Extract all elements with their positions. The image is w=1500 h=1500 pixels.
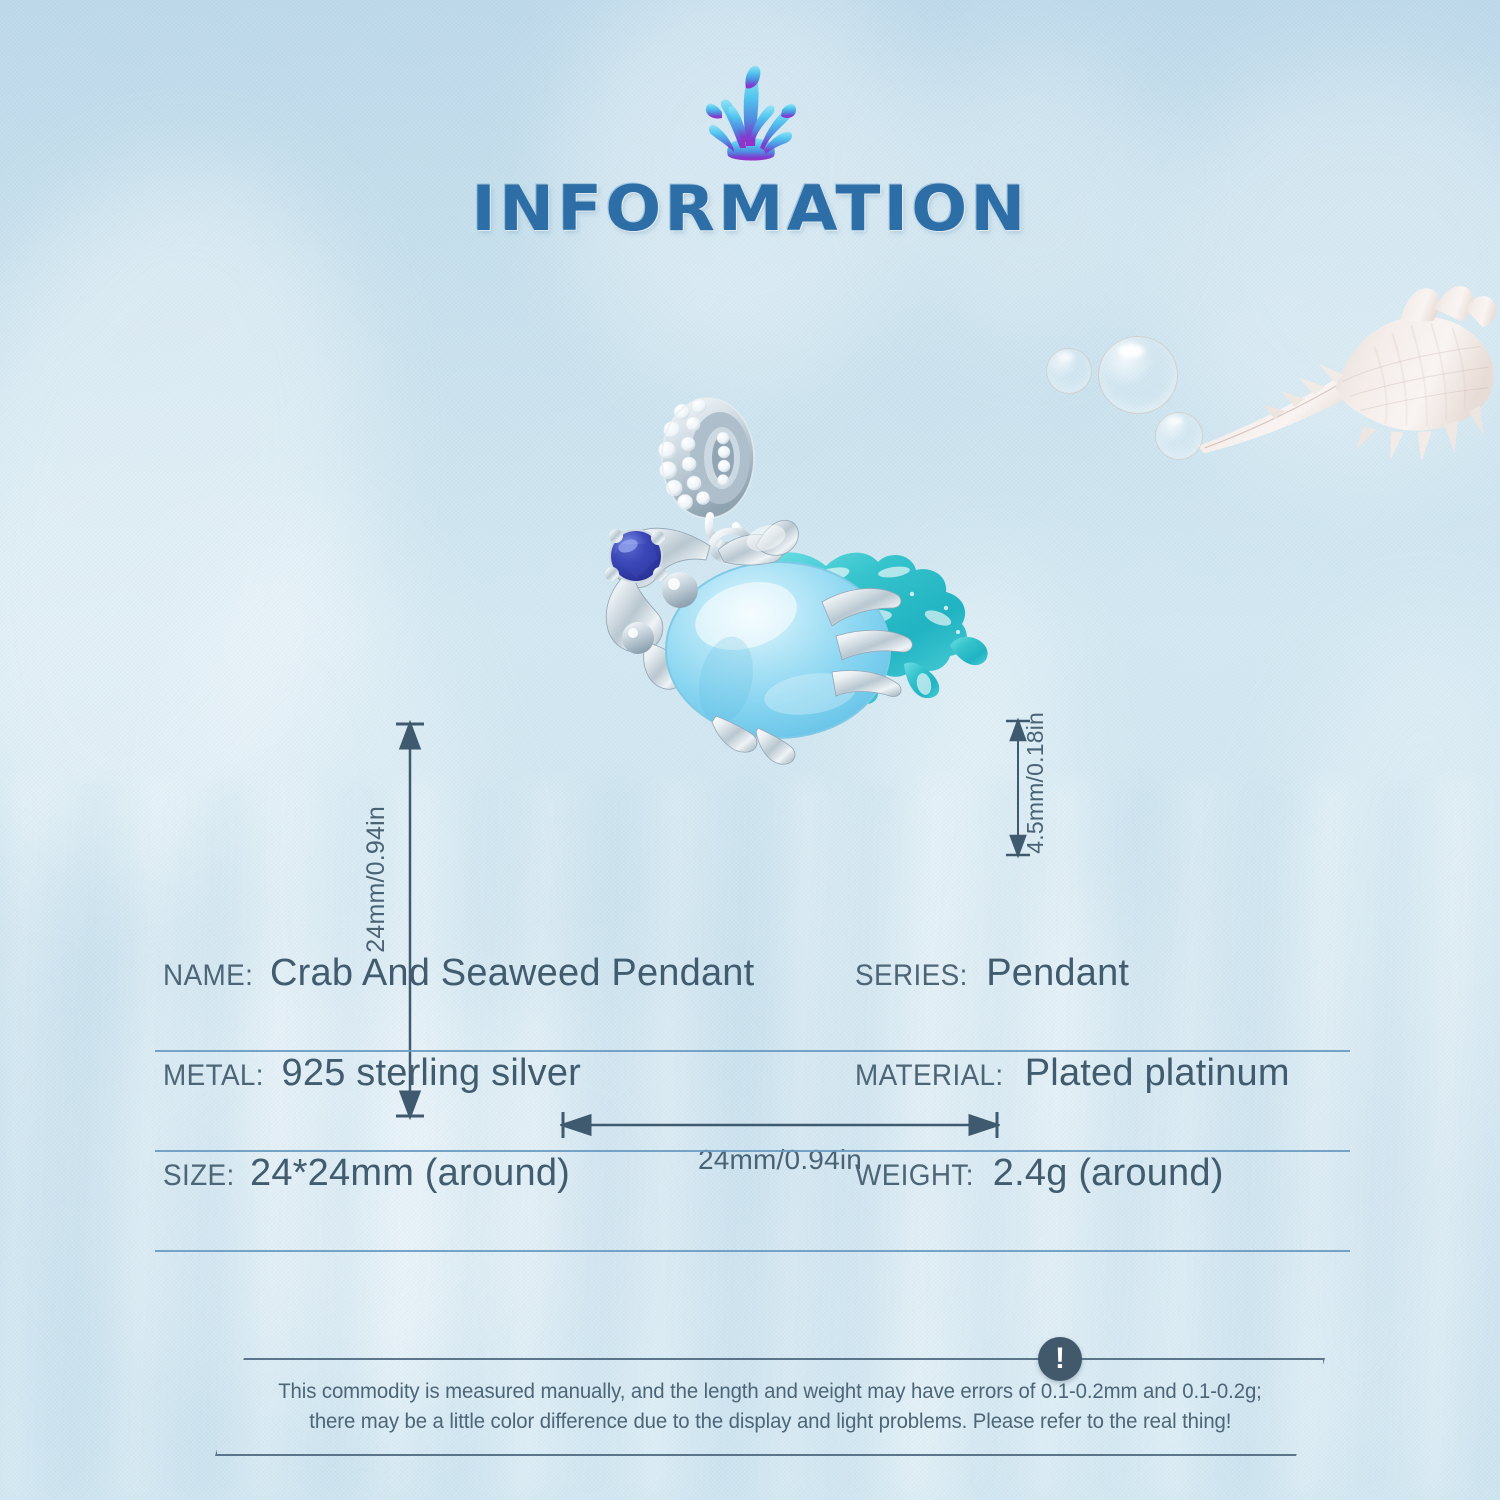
spec-cell-material: MATERIAL: Plated platinum <box>855 1052 1290 1095</box>
spec-divider <box>155 1250 1350 1252</box>
coral-icon <box>702 58 798 166</box>
spec-cell-metal: METAL: 925 sterling silver <box>155 1052 855 1095</box>
product-figure: 24mm/0.94in 4.5mm/0.18in 24mm/0.94 <box>0 340 1500 860</box>
product-image-crab-seaweed-pendant <box>560 350 1020 790</box>
disclaimer-note: This commodity is measured manually, and… <box>215 1358 1325 1456</box>
page-title: INFORMATION <box>0 172 1500 245</box>
spec-label-weight: WEIGHT: <box>855 1159 974 1193</box>
page-header: INFORMATION <box>0 58 1500 245</box>
bail-ring <box>659 398 755 518</box>
spec-value-material: Plated platinum <box>1025 1052 1290 1095</box>
dimension-height-label: 24mm/0.94in <box>362 806 391 953</box>
blue-gem <box>605 529 667 582</box>
spec-value-weight: 2.4g (around) <box>993 1152 1224 1195</box>
dimension-bail: 4.5mm/0.18in <box>1000 718 1040 858</box>
spec-cell-series: SERIES: Pendant <box>855 952 1129 995</box>
disclaimer-line-2: there may be a little color difference d… <box>309 1409 1231 1435</box>
spec-cell-weight: WEIGHT: 2.4g (around) <box>855 1152 1224 1195</box>
disclaimer-line-1: This commodity is measured manually, and… <box>278 1379 1262 1405</box>
spec-label-name: NAME: <box>163 959 253 993</box>
spec-value-name: Crab And Seaweed Pendant <box>270 952 754 995</box>
alert-icon: ! <box>1038 1337 1082 1381</box>
spec-cell-size: SIZE: 24*24mm (around) <box>155 1152 855 1195</box>
spec-label-series: SERIES: <box>855 959 968 993</box>
spec-row-name: NAME: Crab And Seaweed Pendant SERIES: P… <box>155 952 1350 1052</box>
spec-value-metal: 925 sterling silver <box>282 1052 582 1095</box>
spec-row-size: SIZE: 24*24mm (around) WEIGHT: 2.4g (aro… <box>155 1152 1350 1252</box>
spec-label-metal: METAL: <box>163 1059 264 1093</box>
spec-value-series: Pendant <box>986 952 1129 995</box>
spec-value-size: 24*24mm (around) <box>250 1152 570 1195</box>
spec-cell-name: NAME: Crab And Seaweed Pendant <box>155 952 855 995</box>
spec-row-metal: METAL: 925 sterling silver MATERIAL: Pla… <box>155 1052 1350 1152</box>
spec-label-size: SIZE: <box>163 1159 235 1193</box>
dimension-bail-label: 4.5mm/0.18in <box>1022 712 1049 854</box>
specification-table: NAME: Crab And Seaweed Pendant SERIES: P… <box>155 952 1350 1252</box>
spec-label-material: MATERIAL: <box>855 1059 1004 1093</box>
